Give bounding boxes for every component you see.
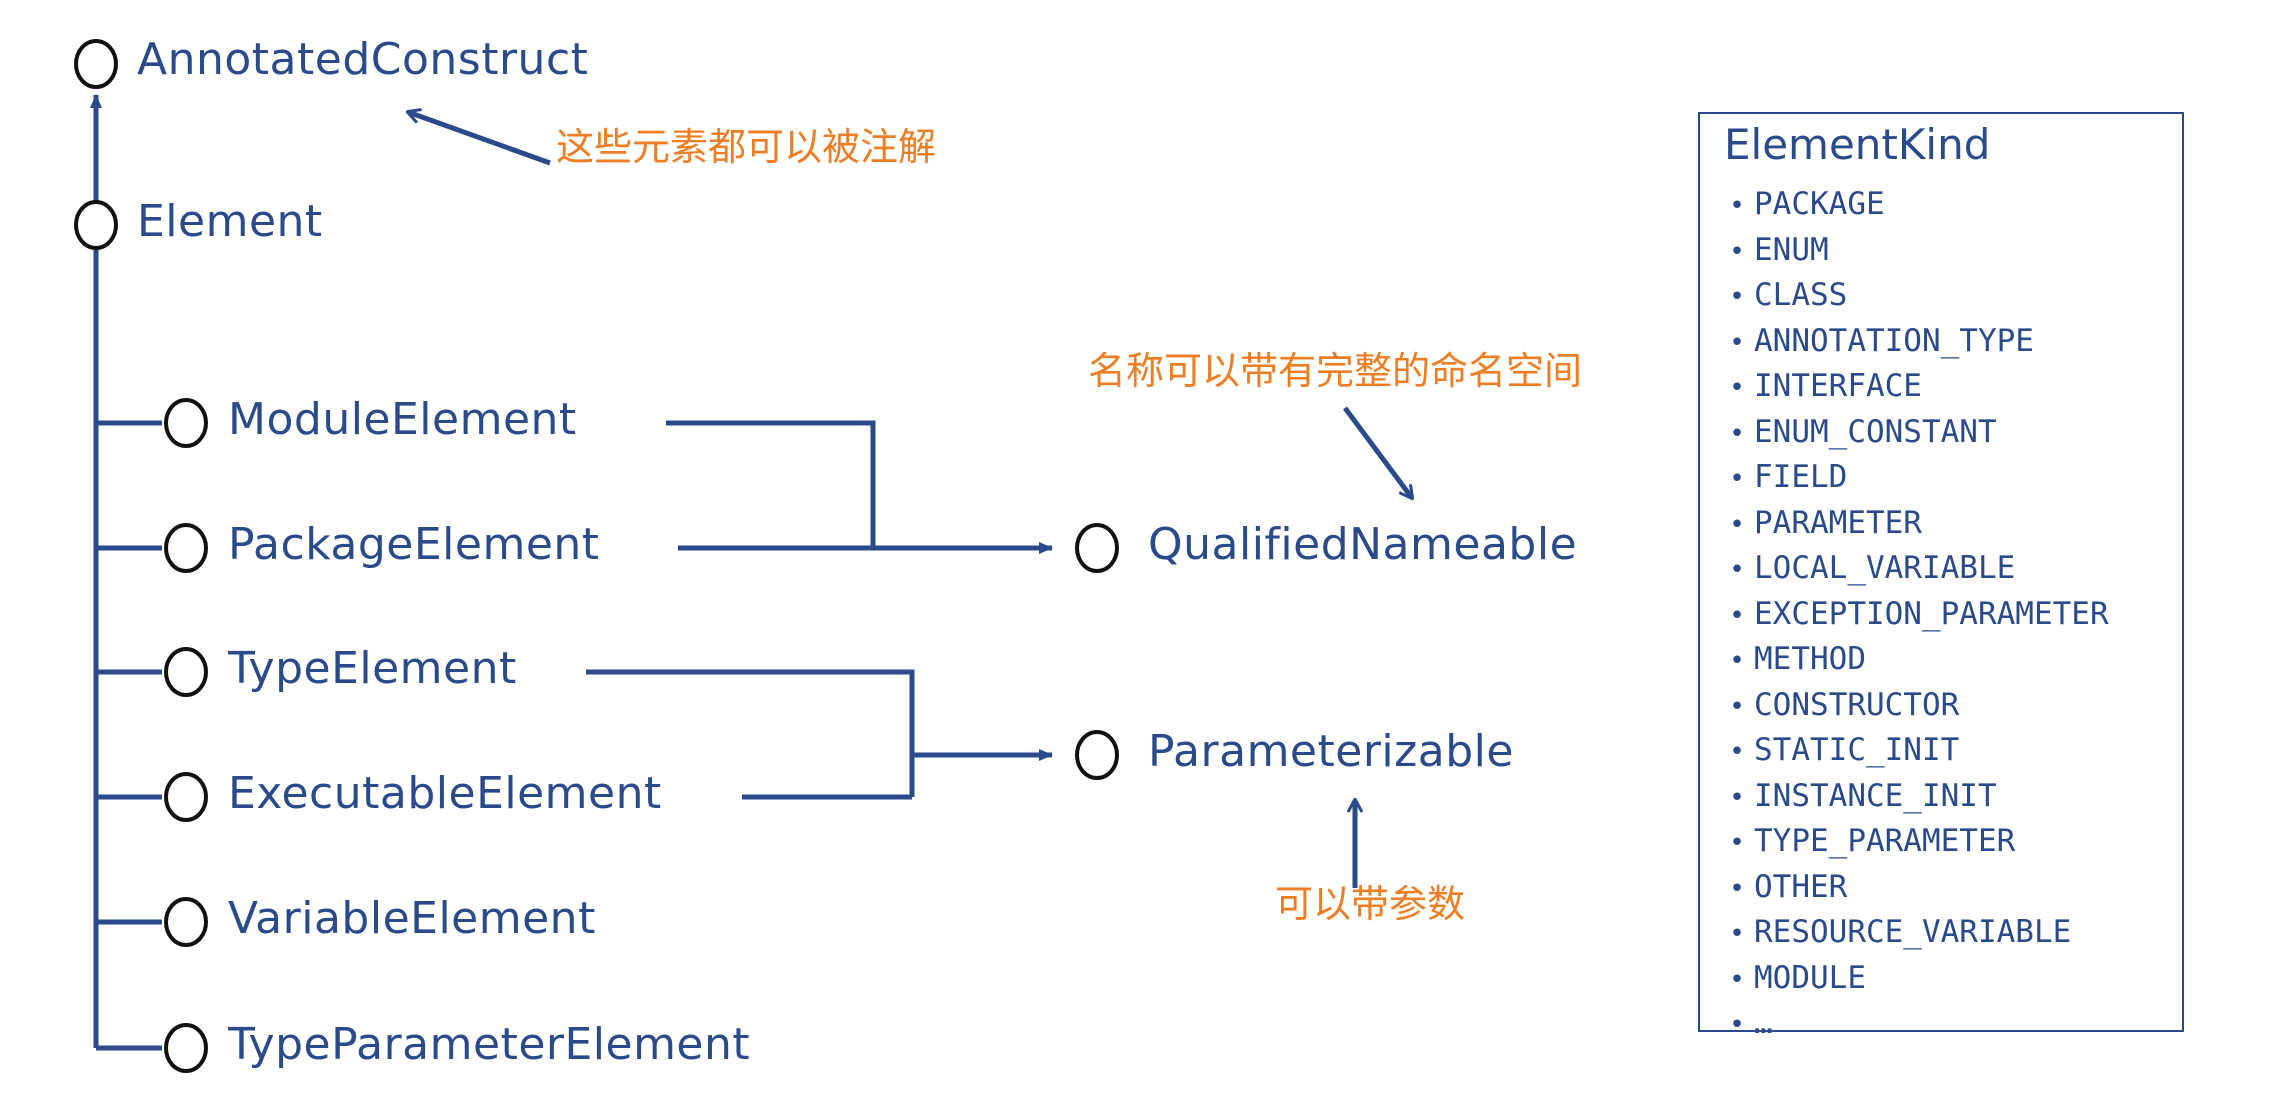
bullet-icon: • bbox=[1720, 503, 1754, 549]
bullet-icon: • bbox=[1720, 958, 1754, 1004]
node-label-qualified-nameable: QualifiedNameable bbox=[1148, 523, 1577, 567]
node-label-element: Element bbox=[137, 200, 323, 244]
element-kind-item-label: STATIC_INIT bbox=[1754, 728, 1959, 774]
circle-type-parameter-element bbox=[166, 1025, 206, 1071]
bullet-icon: • bbox=[1720, 457, 1754, 503]
qualified-nameable-connectors bbox=[666, 423, 1052, 548]
element-kind-item-label: CONSTRUCTOR bbox=[1754, 683, 1959, 729]
element-kind-item-label: CLASS bbox=[1754, 273, 1847, 319]
element-kind-item-label: LOCAL_VARIABLE bbox=[1754, 546, 2015, 592]
element-kind-item-label: RESOURCE_VARIABLE bbox=[1754, 910, 2071, 956]
node-label-parameterizable: Parameterizable bbox=[1148, 730, 1514, 774]
circle-module-element bbox=[166, 400, 206, 446]
bullet-icon: • bbox=[1720, 1003, 1754, 1049]
element-kind-item-label: ANNOTATION_TYPE bbox=[1754, 319, 2034, 365]
element-kind-item-label: INSTANCE_INIT bbox=[1754, 774, 1997, 820]
circle-type-element bbox=[166, 649, 206, 695]
bullet-icon: • bbox=[1720, 685, 1754, 731]
element-kind-item: •… bbox=[1720, 1001, 2109, 1047]
node-label-type-element: TypeElement bbox=[228, 647, 517, 691]
element-kind-item: •ENUM bbox=[1720, 228, 2109, 274]
node-label-variable-element: VariableElement bbox=[228, 897, 596, 941]
diagram-canvas: AnnotatedConstruct Element ModuleElement… bbox=[0, 0, 2284, 1110]
element-kind-item-label: OTHER bbox=[1754, 865, 1847, 911]
element-kind-item: •TYPE_PARAMETER bbox=[1720, 819, 2109, 865]
annotation-qualified-name: 名称可以带有完整的命名空间 bbox=[1088, 352, 1582, 390]
element-kind-item: •METHOD bbox=[1720, 637, 2109, 683]
annotation-parameters: 可以带参数 bbox=[1275, 885, 1465, 923]
bullet-icon: • bbox=[1720, 639, 1754, 685]
element-kind-item-label: … bbox=[1754, 1001, 1773, 1047]
circle-package-element bbox=[166, 525, 206, 571]
element-kind-item-label: METHOD bbox=[1754, 637, 1866, 683]
element-kind-item: •CONSTRUCTOR bbox=[1720, 683, 2109, 729]
element-kind-item-label: INTERFACE bbox=[1754, 364, 1922, 410]
circle-variable-element bbox=[166, 899, 206, 945]
bullet-icon: • bbox=[1720, 776, 1754, 822]
element-kind-item: •FIELD bbox=[1720, 455, 2109, 501]
element-kind-item: •ENUM_CONSTANT bbox=[1720, 410, 2109, 456]
element-kind-item-label: MODULE bbox=[1754, 956, 1866, 1002]
bullet-icon: • bbox=[1720, 412, 1754, 458]
circle-parameterizable bbox=[1077, 732, 1117, 778]
node-label-module-element: ModuleElement bbox=[228, 398, 577, 442]
element-kind-item: •INSTANCE_INIT bbox=[1720, 774, 2109, 820]
bullet-icon: • bbox=[1720, 821, 1754, 867]
element-kind-item-label: PACKAGE bbox=[1754, 182, 1885, 228]
annotation-annotatable: 这些元素都可以被注解 bbox=[556, 128, 936, 166]
element-kind-item: •PARAMETER bbox=[1720, 501, 2109, 547]
bullet-icon: • bbox=[1720, 548, 1754, 594]
bullet-icon: • bbox=[1720, 184, 1754, 230]
element-kind-item-label: EXCEPTION_PARAMETER bbox=[1754, 592, 2109, 638]
node-label-type-parameter-element: TypeParameterElement bbox=[228, 1023, 750, 1067]
element-kind-item: •OTHER bbox=[1720, 865, 2109, 911]
bullet-icon: • bbox=[1720, 867, 1754, 913]
element-kind-item-label: ENUM_CONSTANT bbox=[1754, 410, 1997, 456]
node-label-annotated-construct: AnnotatedConstruct bbox=[137, 38, 588, 82]
circle-element bbox=[76, 202, 116, 248]
element-kind-item: •MODULE bbox=[1720, 956, 2109, 1002]
element-kind-item-label: PARAMETER bbox=[1754, 501, 1922, 547]
subtype-stubs bbox=[96, 423, 162, 1048]
element-kind-item: •RESOURCE_VARIABLE bbox=[1720, 910, 2109, 956]
element-kind-item: •STATIC_INIT bbox=[1720, 728, 2109, 774]
element-kind-item-label: FIELD bbox=[1754, 455, 1847, 501]
bullet-icon: • bbox=[1720, 912, 1754, 958]
bullet-icon: • bbox=[1720, 230, 1754, 276]
element-kind-item-label: ENUM bbox=[1754, 228, 1829, 274]
element-kind-list: •PACKAGE•ENUM•CLASS•ANNOTATION_TYPE•INTE… bbox=[1720, 182, 2109, 1047]
element-kind-item: •ANNOTATION_TYPE bbox=[1720, 319, 2109, 365]
bullet-icon: • bbox=[1720, 594, 1754, 640]
element-kind-item: •PACKAGE bbox=[1720, 182, 2109, 228]
circle-qualified-nameable bbox=[1077, 525, 1117, 571]
annotatable-note-arrow bbox=[408, 112, 550, 163]
bullet-icon: • bbox=[1720, 275, 1754, 321]
bullet-icon: • bbox=[1720, 366, 1754, 412]
element-kind-item: •EXCEPTION_PARAMETER bbox=[1720, 592, 2109, 638]
node-label-executable-element: ExecutableElement bbox=[228, 772, 662, 816]
element-kind-title: ElementKind bbox=[1724, 124, 1990, 166]
element-kind-item-label: TYPE_PARAMETER bbox=[1754, 819, 2015, 865]
circle-executable-element bbox=[166, 774, 206, 820]
bullet-icon: • bbox=[1720, 321, 1754, 367]
qualified-name-note-arrow bbox=[1345, 408, 1412, 498]
element-kind-item: •INTERFACE bbox=[1720, 364, 2109, 410]
circle-annotated-construct bbox=[76, 41, 116, 87]
element-kind-panel: ElementKind •PACKAGE•ENUM•CLASS•ANNOTATI… bbox=[1698, 112, 2184, 1032]
element-kind-item: •LOCAL_VARIABLE bbox=[1720, 546, 2109, 592]
element-kind-item: •CLASS bbox=[1720, 273, 2109, 319]
node-label-package-element: PackageElement bbox=[228, 523, 600, 567]
bullet-icon: • bbox=[1720, 730, 1754, 776]
